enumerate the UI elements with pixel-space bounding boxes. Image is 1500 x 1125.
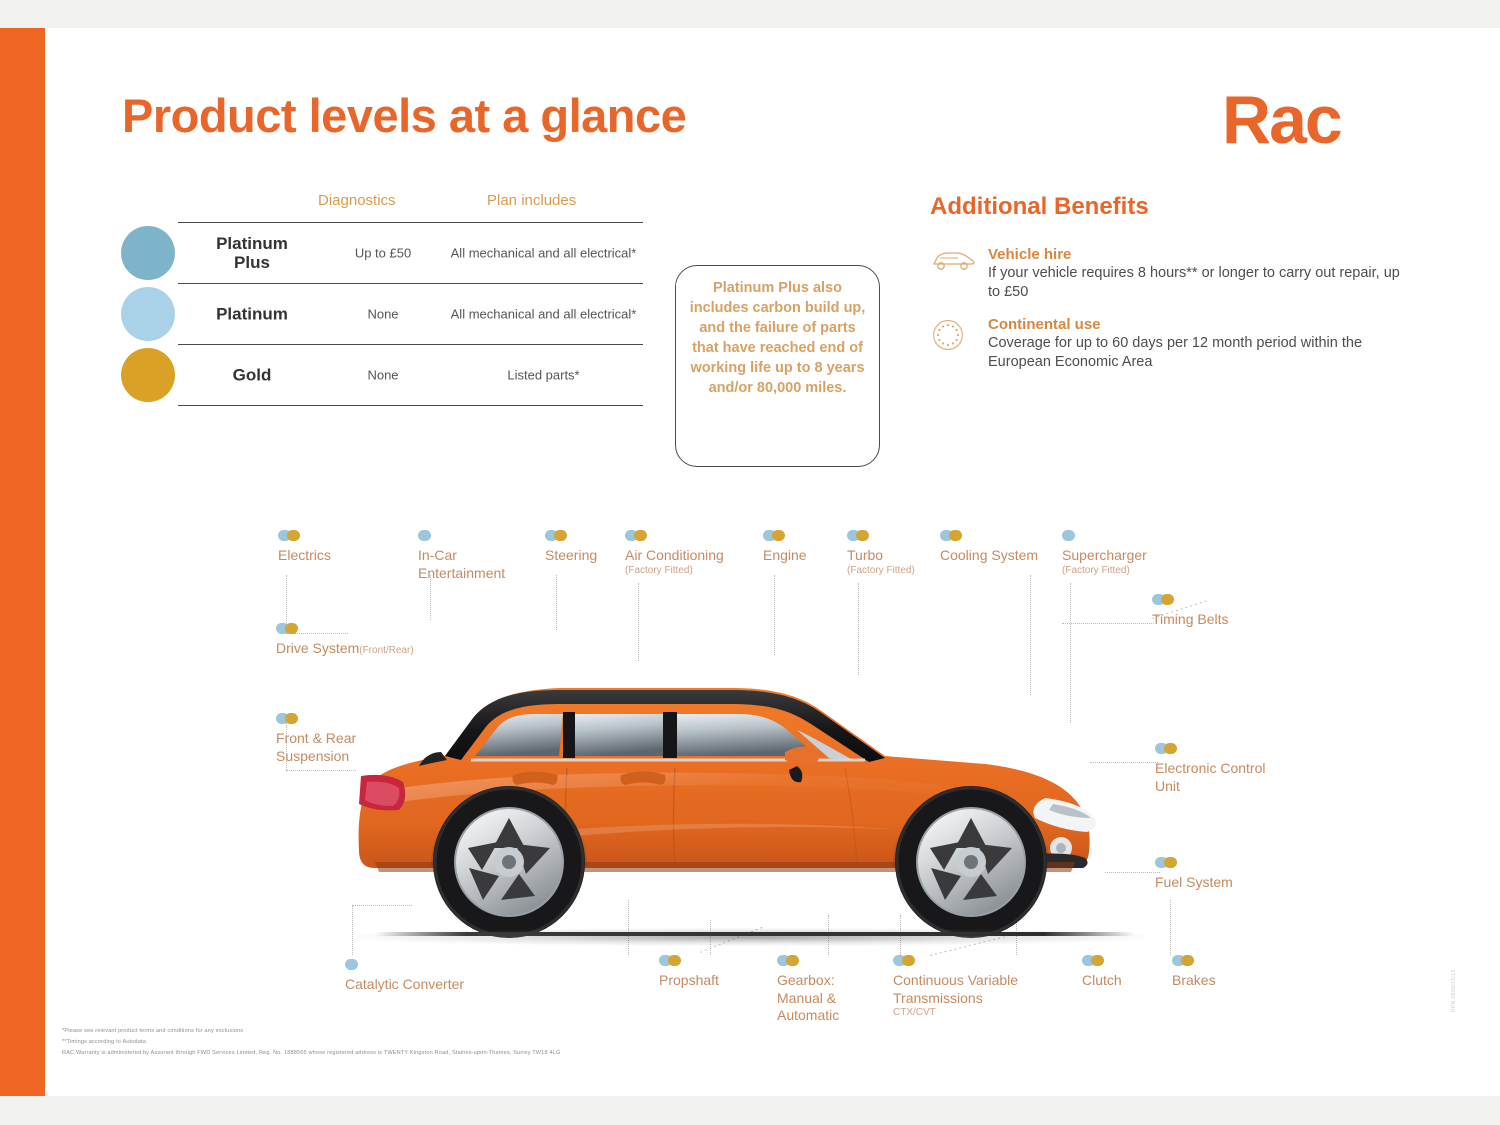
car-svg [345,640,1155,940]
label-line1: Supercharger [1062,547,1147,563]
pip-group [1172,955,1194,966]
eu-stars-icon [930,317,976,347]
table-row: Gold None Listed parts* [178,344,643,406]
cell-diagnostics: None [328,368,438,383]
label-line1: Electronic Control [1155,760,1266,776]
pip-group [545,530,567,541]
pip-blue [418,530,431,541]
label-text: Air Conditioning (Factory Fitted) [625,547,724,577]
car-icon [930,247,976,277]
level-name-line1: Platinum [216,234,288,253]
pip-blue [345,959,358,970]
label-text: Drive System(Front/Rear) [276,640,414,658]
label-text: Electrics [278,547,331,565]
label-line1: Drive System [276,640,359,656]
pip-gold [1181,955,1194,966]
label-line1: In-Car [418,547,457,563]
label-text: Continuous Variable Transmissions CTX/CV… [893,972,1018,1020]
pip-group [625,530,647,541]
label-text: Turbo (Factory Fitted) [847,547,915,577]
leader-line [1170,900,1171,955]
cell-plan-includes: Listed parts* [436,368,651,383]
label-text: Brakes [1172,972,1216,990]
benefit-body: Coverage for up to 60 days per 12 month … [988,334,1408,373]
pip-group [345,959,358,970]
label-text: Propshaft [659,972,719,990]
pip-group [1152,594,1174,605]
pip-group [763,530,785,541]
car-shadow [355,928,1145,946]
pip-gold [772,530,785,541]
car-illustration [345,640,1155,970]
pip-group [659,955,681,966]
platinum-plus-callout: Platinum Plus also includes carbon build… [675,265,880,467]
pip-group [276,713,298,724]
additional-benefits-title: Additional Benefits [930,193,1149,221]
level-dot-platinum-plus [121,226,175,280]
pip-gold [285,713,298,724]
pip-blue [1062,530,1075,541]
level-dot-platinum [121,287,175,341]
car-parts-diagram: Electrics In-Car Entertainment Steering … [0,500,1500,1060]
footnote-3: RAC Warranty is administered by Assurant… [62,1048,560,1059]
label-line1: Continuous Variable [893,972,1018,988]
pip-gold [949,530,962,541]
table-row: Platinum None All mechanical and all ele… [178,283,643,344]
benefit-heading: Vehicle hire [988,246,1408,263]
cell-diagnostics: Up to £50 [328,246,438,261]
product-levels-table: Platinum Plus Up to £50 All mechanical a… [178,222,643,406]
pip-group [1082,955,1104,966]
level-name-platinum: Platinum [192,304,312,323]
label-line3: Automatic [777,1007,839,1023]
pip-gold [856,530,869,541]
cell-plan-includes: All mechanical and all electrical* [436,246,651,261]
label-line2: Transmissions [893,990,983,1006]
pip-gold [1161,594,1174,605]
pip-gold [1164,743,1177,754]
level-name-line2: Plus [234,253,270,272]
label-text: Fuel System [1155,874,1233,892]
label-text: Gearbox: Manual & Automatic [777,972,839,1025]
pip-gold [902,955,915,966]
label-text: Front & Rear Suspension [276,730,356,765]
footnote-1: *Please see relevant product terms and c… [62,1026,560,1037]
cell-plan-includes: All mechanical and all electrical* [436,307,651,322]
pip-group [276,623,298,634]
pip-group [777,955,799,966]
pip-gold [786,955,799,966]
pip-group [1155,743,1177,754]
label-text: Engine [763,547,807,565]
label-sub: (Factory Fitted) [1062,565,1147,578]
callout-text: Platinum Plus also includes carbon build… [686,278,869,398]
table-row: Platinum Plus Up to £50 All mechanical a… [178,222,643,283]
document-side-code: RPN 0808/15/13 [1451,969,1457,1012]
road-line [375,932,1135,936]
pip-gold [1164,857,1177,868]
pip-gold [634,530,647,541]
label-sub: CTX/CVT [893,1007,1018,1020]
label-sub: (Front/Rear) [359,645,413,656]
pip-gold [285,623,298,634]
pip-group [940,530,962,541]
pip-gold [668,955,681,966]
label-line2: Unit [1155,778,1180,794]
benefit-heading: Continental use [988,316,1408,333]
pip-gold [1091,955,1104,966]
cell-diagnostics: None [328,307,438,322]
footnote-2: **Timings according to Autodata [62,1037,560,1048]
benefit-continental-use: Continental use Coverage for up to 60 da… [988,316,1408,373]
pip-gold [554,530,567,541]
label-line1: Air Conditioning [625,547,724,563]
label-line1: Turbo [847,547,883,563]
label-text: Clutch [1082,972,1122,990]
label-text: Timing Belts [1152,611,1229,629]
pip-group [278,530,300,541]
label-line2: Manual & [777,990,836,1006]
label-line2: Suspension [276,748,349,764]
callout-notch [676,283,678,383]
column-header-plan-includes: Plan includes [487,192,576,209]
label-line1: Front & Rear [276,730,356,746]
level-dot-gold [121,348,175,402]
level-name-platinum-plus: Platinum Plus [192,234,312,272]
label-sub: (Factory Fitted) [625,565,724,578]
label-text: Cooling System [940,547,1038,565]
rac-logo: Rac [1222,86,1341,154]
label-line2: Entertainment [418,565,505,581]
label-text: Catalytic Converter [345,976,464,994]
label-text: Supercharger (Factory Fitted) [1062,547,1147,577]
label-text: Electronic Control Unit [1155,760,1266,795]
pip-group [1155,857,1177,868]
label-line1: Gearbox: [777,972,835,988]
leader-line [1062,623,1154,624]
label-text: Steering [545,547,597,565]
leader-line [556,575,557,630]
label-sub: (Factory Fitted) [847,565,915,578]
benefit-body: If your vehicle requires 8 hours** or lo… [988,264,1408,303]
pip-group [893,955,915,966]
pip-group [418,530,431,541]
pip-group [1062,530,1075,541]
infographic-page: Product levels at a glance Rac Diagnosti… [0,0,1500,1125]
label-text: In-Car Entertainment [418,547,505,582]
pip-group [847,530,869,541]
footnotes: *Please see relevant product terms and c… [62,1026,560,1059]
benefit-vehicle-hire: Vehicle hire If your vehicle requires 8 … [988,246,1408,303]
page-title: Product levels at a glance [122,88,686,143]
column-header-diagnostics: Diagnostics [318,192,396,209]
pip-gold [287,530,300,541]
level-name-gold: Gold [192,365,312,384]
